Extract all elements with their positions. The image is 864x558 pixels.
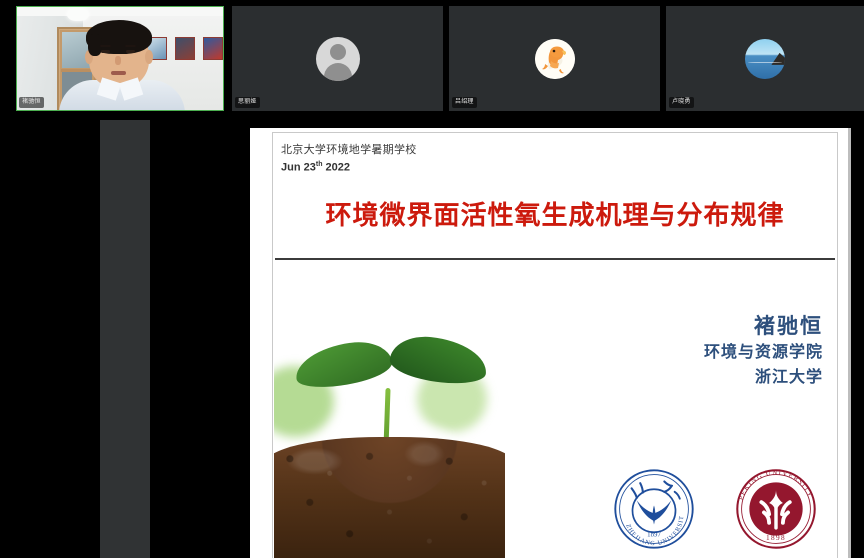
slide-header: 北京大学环境地学暑期学校 Jun 23th 2022 — [281, 143, 417, 175]
zhejiang-university-logo: 1897 ZHEJIANG UNIVERSITY — [611, 466, 697, 552]
participant-video-strip: 褚驰恒 思丽娅 吕绍理 — [0, 0, 864, 117]
participant-tile-1[interactable]: 思丽娅 — [232, 6, 443, 111]
author-university: 浙江大学 — [704, 365, 823, 390]
ceiling — [17, 7, 223, 16]
participant-tile-3[interactable]: 卢晓勇 — [666, 6, 864, 111]
date-year: 2022 — [326, 162, 350, 174]
seedling-photo — [274, 283, 505, 558]
participant-name-0: 褚驰恒 — [19, 97, 44, 108]
participant-tile-0[interactable]: 褚驰恒 — [16, 6, 224, 111]
ocean-photo-icon — [745, 39, 785, 79]
default-person-icon — [316, 37, 360, 81]
participant-tile-2[interactable]: 吕绍理 — [449, 6, 660, 111]
slide-edge-shadow — [848, 128, 851, 558]
slide-title: 环境微界面活性氧生成机理与分布规律 — [273, 195, 837, 232]
university-logos: 1897 ZHEJIANG UNIVERSITY 1898 — [611, 466, 821, 552]
date-prefix: Jun 23 — [281, 162, 316, 174]
svg-text:1897: 1897 — [647, 532, 661, 539]
cartoon-dragon-icon — [535, 39, 575, 79]
participant-name-2: 吕绍理 — [452, 97, 477, 108]
backdrop-panel — [100, 120, 150, 558]
participant-name-1: 思丽娅 — [235, 97, 260, 108]
author-school: 环境与资源学院 — [704, 340, 823, 365]
webcam-video-feed — [17, 7, 223, 110]
participant-name-3: 卢晓勇 — [669, 97, 694, 108]
date-ordinal-suffix: th — [316, 161, 323, 168]
soil-mound — [274, 437, 505, 558]
title-divider — [275, 258, 835, 260]
author-name: 褚驰恒 — [704, 313, 823, 340]
zoom-meeting-screen: 褚驰恒 思丽娅 吕绍理 — [0, 0, 864, 558]
peking-university-logo: 1898 PEKING UNIVERSITY — [733, 466, 819, 552]
presentation-slide[interactable]: 北京大学环境地学暑期学校 Jun 23th 2022 环境微界面活性氧生成机理与… — [272, 132, 838, 558]
summer-school-label: 北京大学环境地学暑期学校 — [281, 143, 417, 157]
presenter-figure — [69, 18, 175, 110]
slide-date: Jun 23th 2022 — [281, 158, 417, 175]
svg-text:1898: 1898 — [766, 533, 786, 542]
author-block: 褚驰恒 环境与资源学院 浙江大学 — [704, 313, 823, 390]
